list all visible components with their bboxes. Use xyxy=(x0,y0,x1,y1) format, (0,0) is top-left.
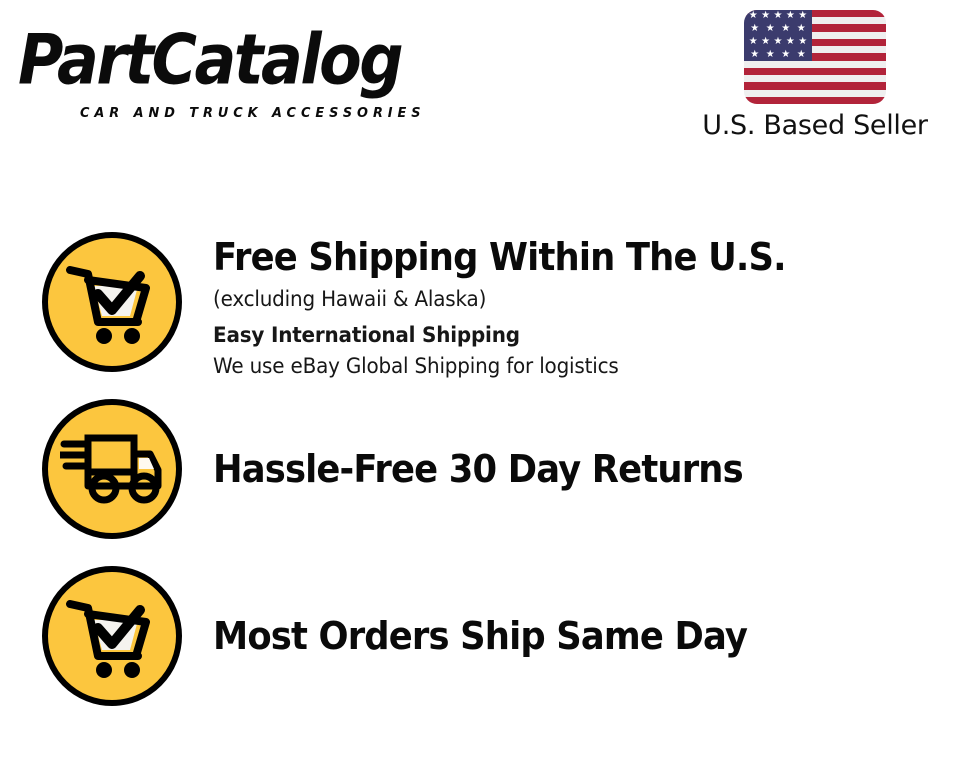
feature-row: Most Orders Ship Same Day xyxy=(0,566,960,706)
brand-tagline: CAR AND TRUCK ACCESSORIES xyxy=(80,106,426,121)
shopping-cart-check-icon xyxy=(42,566,182,706)
delivery-truck-icon xyxy=(42,399,182,539)
feature-sub-heading: Easy International Shipping xyxy=(213,320,923,350)
shopping-cart-check-icon xyxy=(42,232,182,372)
page-header: PartCatalog CAR AND TRUCK ACCESSORIES ★★… xyxy=(0,0,960,170)
feature-heading: Hassle-Free 30 Day Returns xyxy=(213,446,908,492)
us-based-seller-label: U.S. Based Seller xyxy=(680,110,950,141)
flag-canton: ★★★★★ ★★★★ ★★★★★ ★★★★ xyxy=(744,10,812,61)
feature-text-block: Free Shipping Within The U.S. (excluding… xyxy=(213,232,960,381)
feature-sub-note: We use eBay Global Shipping for logistic… xyxy=(213,351,923,381)
feature-heading: Most Orders Ship Same Day xyxy=(213,613,908,659)
feature-row: Hassle-Free 30 Day Returns xyxy=(0,399,960,539)
feature-heading: Free Shipping Within The U.S. xyxy=(213,234,908,280)
feature-text-block: Most Orders Ship Same Day xyxy=(213,613,960,659)
feature-row: Free Shipping Within The U.S. (excluding… xyxy=(0,232,960,381)
brand-wordmark: PartCatalog xyxy=(18,22,401,98)
us-based-seller-badge: ★★★★★ ★★★★ ★★★★★ ★★★★ U.S. Based Seller xyxy=(680,8,950,141)
brand-logo[interactable]: PartCatalog CAR AND TRUCK ACCESSORIES xyxy=(18,22,478,112)
feature-note: (excluding Hawaii & Alaska) xyxy=(213,284,923,314)
us-flag-icon: ★★★★★ ★★★★ ★★★★★ ★★★★ xyxy=(744,10,886,104)
feature-text-block: Hassle-Free 30 Day Returns xyxy=(213,446,960,492)
